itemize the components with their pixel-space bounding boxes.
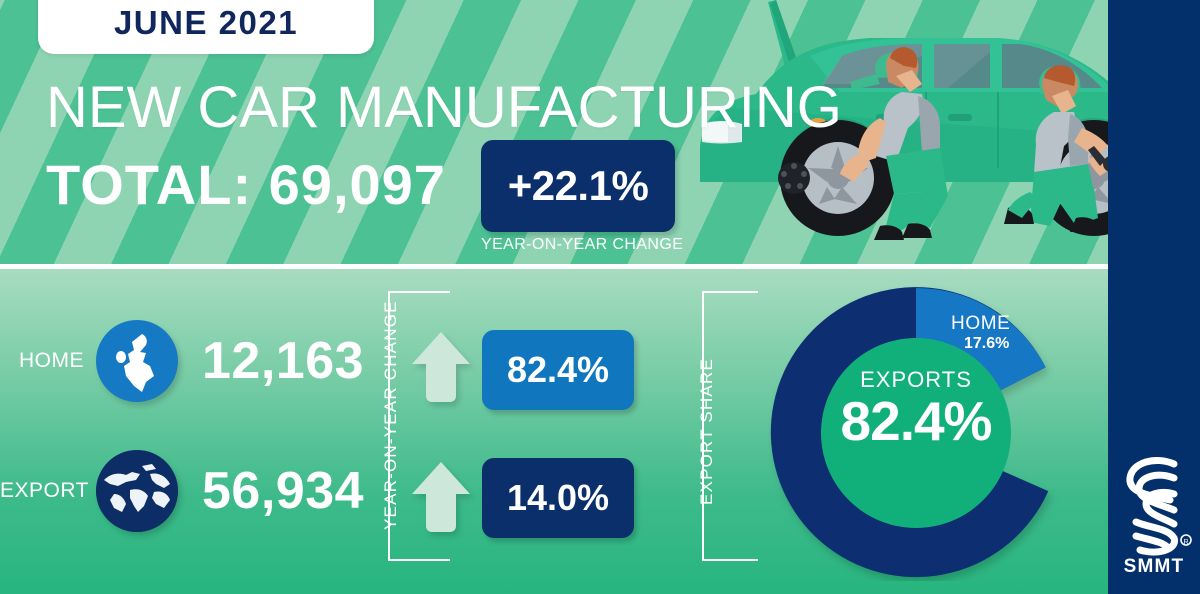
arrow-up-icon-home	[410, 330, 472, 404]
export-share-donut-chart: EXPORTS 82.4% HOME 17.6%	[768, 285, 1064, 581]
infographic-canvas: JUNE 2021 NEW CAR MANUFACTURING TOTAL: 6…	[0, 0, 1200, 594]
yoy-total-caption: YEAR-ON-YEAR CHANGE	[481, 236, 675, 254]
date-tab: JUNE 2021	[38, 0, 374, 54]
stat-label-export: EXPORT	[0, 479, 96, 503]
stat-label-home: HOME	[0, 349, 96, 373]
stat-value-home: 12,163	[202, 331, 364, 391]
yoy-home-value: 82.4%	[507, 349, 609, 391]
stat-row-home: HOME 12,163	[0, 320, 364, 402]
stat-value-export: 56,934	[202, 461, 364, 521]
yoy-home-badge: 82.4%	[482, 330, 634, 410]
smmt-s-logo-icon: R	[1116, 448, 1194, 566]
donut-center-value: 82.4%	[768, 389, 1064, 453]
page-title: NEW CAR MANUFACTURING	[46, 74, 842, 141]
uk-map-icon	[96, 320, 178, 402]
donut-slice-value-home: 17.6%	[964, 335, 1009, 353]
brand-name: SMMT	[1108, 556, 1200, 578]
date-label: JUNE 2021	[114, 4, 298, 42]
yoy-total-badge: +22.1%	[481, 140, 675, 232]
yoy-export-value: 14.0%	[507, 477, 609, 519]
yoy-total-value: +22.1%	[508, 162, 649, 210]
total-value: TOTAL: 69,097	[46, 152, 446, 217]
yoy-bracket-label: YEAR-ON-YEAR CHANGE	[381, 325, 401, 530]
svg-text:R: R	[1183, 539, 1188, 546]
stat-row-export: EXPORT 56,934	[0, 450, 364, 532]
export-share-bracket-label: EXPORT SHARE	[697, 355, 717, 505]
globe-icon	[96, 450, 178, 532]
donut-slice-label-home: HOME	[951, 313, 1010, 335]
yoy-export-badge: 14.0%	[482, 458, 634, 538]
arrow-up-icon-export	[410, 460, 472, 534]
